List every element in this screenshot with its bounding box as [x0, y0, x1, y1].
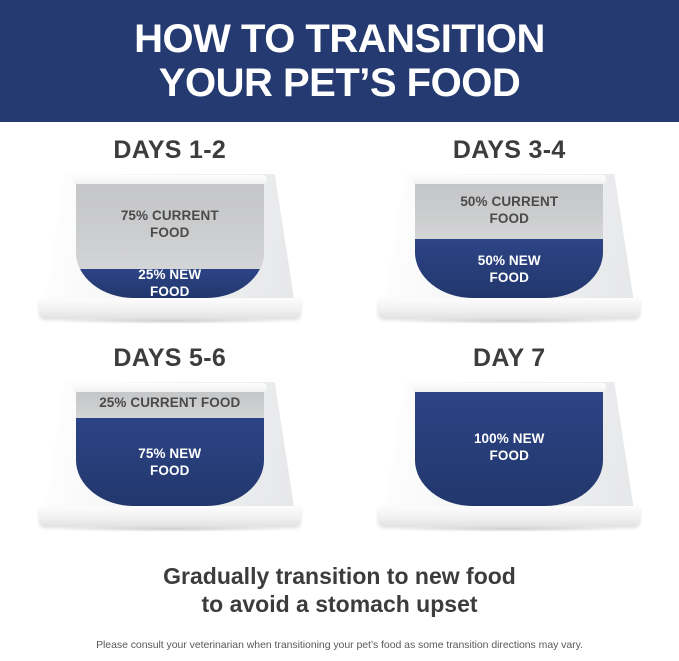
food-bowl-graphic: 50% CURRENT FOOD 50% NEW FOOD: [384, 174, 634, 324]
step-title: DAYS 3-4: [453, 136, 566, 165]
bowl-shadow: [51, 318, 289, 324]
new-food-label: 25% NEW FOOD: [138, 266, 201, 298]
current-food-label: 50% CURRENT FOOD: [460, 193, 558, 227]
bowl-shadow: [390, 318, 628, 324]
footer: Gradually transition to new food to avoi…: [0, 562, 679, 651]
current-food-portion: 75% CURRENT FOOD: [76, 180, 264, 269]
new-food-portion: 50% NEW FOOD: [415, 239, 603, 298]
step-card-days-5-6: DAYS 5-6 25% CURRENT FOOD 75% NEW FOOD: [0, 344, 340, 552]
new-food-portion: 75% NEW FOOD: [76, 418, 264, 507]
bowl-cavity: 50% CURRENT FOOD 50% NEW FOOD: [415, 180, 603, 298]
bowl-shadow: [51, 526, 289, 532]
header-banner: HOW TO TRANSITION YOUR PET’S FOOD: [0, 0, 679, 122]
bowl-base: [378, 298, 640, 318]
new-food-portion: 25% NEW FOOD: [76, 269, 264, 299]
food-bowl-graphic: 75% CURRENT FOOD 25% NEW FOOD: [45, 174, 295, 324]
current-food-label: 25% CURRENT FOOD: [99, 394, 240, 411]
food-bowl-graphic: 100% NEW FOOD: [384, 382, 634, 532]
transition-step-grid: DAYS 1-2 75% CURRENT FOOD 25% NEW FOOD D…: [0, 122, 679, 552]
current-food-portion: 25% CURRENT FOOD: [76, 388, 264, 418]
bowl-cavity: 100% NEW FOOD: [415, 388, 603, 506]
header-title-line2: YOUR PET’S FOOD: [159, 61, 520, 105]
bowl-shadow: [390, 526, 628, 532]
step-title: DAYS 1-2: [113, 136, 226, 165]
new-food-label: 75% NEW FOOD: [138, 445, 201, 479]
footer-headline-line2: to avoid a stomach upset: [0, 590, 679, 618]
step-card-day-7: DAY 7 100% NEW FOOD: [340, 344, 679, 552]
bowl-cavity: 25% CURRENT FOOD 75% NEW FOOD: [76, 388, 264, 506]
bowl-base: [39, 298, 301, 318]
footer-disclaimer: Please consult your veterinarian when tr…: [0, 639, 679, 651]
footer-headline-line1: Gradually transition to new food: [0, 562, 679, 590]
step-title: DAY 7: [473, 344, 545, 373]
bowl-cavity: 75% CURRENT FOOD 25% NEW FOOD: [76, 180, 264, 298]
header-title-line1: HOW TO TRANSITION: [134, 17, 545, 61]
new-food-label: 100% NEW FOOD: [474, 430, 545, 464]
step-title: DAYS 5-6: [113, 344, 226, 373]
current-food-label: 75% CURRENT FOOD: [121, 207, 219, 241]
step-card-days-1-2: DAYS 1-2 75% CURRENT FOOD 25% NEW FOOD: [0, 136, 340, 344]
step-card-days-3-4: DAYS 3-4 50% CURRENT FOOD 50% NEW FOOD: [340, 136, 679, 344]
new-food-portion: 100% NEW FOOD: [415, 388, 603, 506]
food-bowl-graphic: 25% CURRENT FOOD 75% NEW FOOD: [45, 382, 295, 532]
new-food-label: 50% NEW FOOD: [478, 252, 541, 286]
bowl-base: [378, 506, 640, 526]
bowl-base: [39, 506, 301, 526]
current-food-portion: 50% CURRENT FOOD: [415, 180, 603, 239]
